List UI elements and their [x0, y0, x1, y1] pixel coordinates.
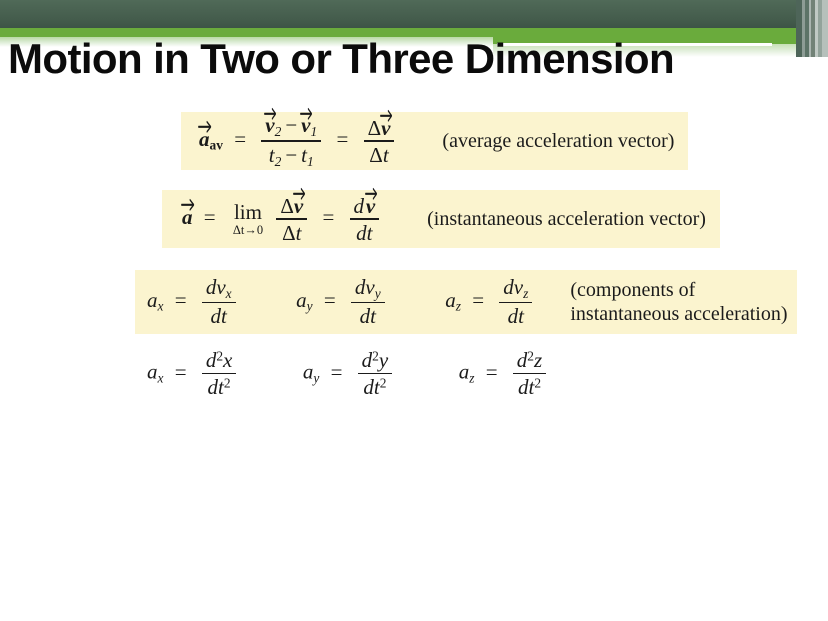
equation-instantaneous-acceleration: a = lim Δt→0 Δv Δt = d v dt (instantaneo…	[162, 190, 720, 248]
header-dark-band	[0, 0, 828, 28]
page-title: Motion in Two or Three Dimension	[8, 36, 808, 82]
equation-1-body: aav = v2−v1 t2−t1 = Δv Δt	[199, 113, 398, 169]
equation-2-note: (instantaneous acceleration vector)	[383, 208, 706, 231]
equation-acceleration-components: ax = dvx dt ay = dvy dt az = dvz dt	[135, 270, 797, 334]
equation-4-body: ax = d2x dt2 ay = d2y dt2 az = d2z dt2	[147, 349, 550, 399]
limit-operator-subscript: Δt→0	[233, 224, 263, 237]
equation-average-acceleration: aav = v2−v1 t2−t1 = Δv Δt (average accel…	[181, 112, 688, 170]
equation-3-note: (components of instantaneous acceleratio…	[536, 278, 787, 327]
equation-3-note-line-2: instantaneous acceleration)	[570, 303, 787, 325]
limit-operator-label: lim	[234, 201, 262, 223]
equation-acceleration-second-derivative: ax = d2x dt2 ay = d2y dt2 az = d2z dt2	[135, 345, 560, 403]
header-dark-band-shade	[0, 0, 828, 28]
equation-3-body: ax = dvx dt ay = dvy dt az = dvz dt	[147, 276, 536, 328]
equation-3-note-line-1: (components of	[570, 279, 695, 301]
equation-2-body: a = lim Δt→0 Δv Δt = d v dt	[182, 194, 383, 245]
equation-1-note: (average acceleration vector)	[398, 130, 674, 153]
